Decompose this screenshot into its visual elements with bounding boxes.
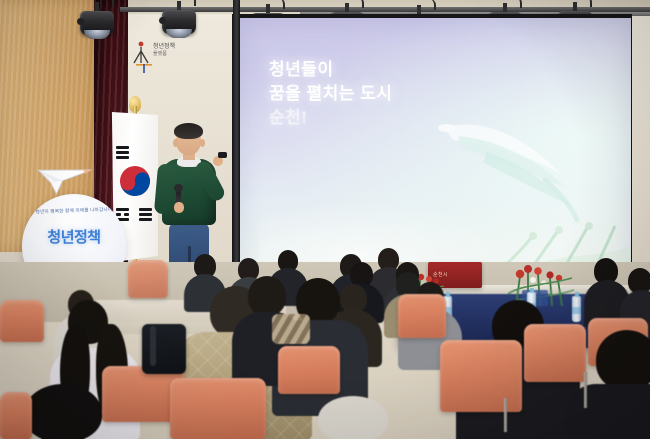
institution-logo: 청년정책 플랫폼: [128, 33, 192, 75]
presenter-hair: [174, 123, 203, 139]
standee-main-text: 청년정책: [26, 226, 122, 247]
presentation-clicker-icon: [218, 152, 227, 158]
backpack-prop: [142, 324, 186, 374]
svg-text:플랫폼: 플랫폼: [153, 50, 167, 57]
chair-front-7: [128, 260, 168, 298]
backpack-strap: [150, 326, 156, 366]
chair-leg-1: [504, 398, 507, 432]
spotlight-1: [80, 2, 114, 42]
photo-scene: 청년정책 플랫폼: [0, 0, 650, 439]
chair-front-4: [278, 346, 340, 394]
presentation-screen[interactable]: 청년들이 꿈을 펼치는 도시 순천!: [239, 18, 631, 286]
room-pillar: [233, 0, 240, 300]
chair-front-6: [524, 324, 586, 382]
chair-front-5: [440, 340, 522, 412]
chair-front-8: [0, 392, 32, 439]
water-bottle-3: [572, 296, 581, 322]
chair-front-3: [170, 378, 266, 439]
svg-text:청년정책: 청년정책: [153, 42, 175, 50]
chair-mid-3: [0, 300, 44, 342]
screen-sheen: [239, 18, 631, 286]
paper-airplane-icon: [36, 156, 97, 198]
chair-leg-2: [584, 372, 587, 408]
chair-mid-1: [398, 294, 446, 338]
flower-arrangement-center: [498, 250, 578, 306]
standee-arc-text: 청년이 행복한 함께 미래를 나아갑니다: [30, 206, 118, 215]
